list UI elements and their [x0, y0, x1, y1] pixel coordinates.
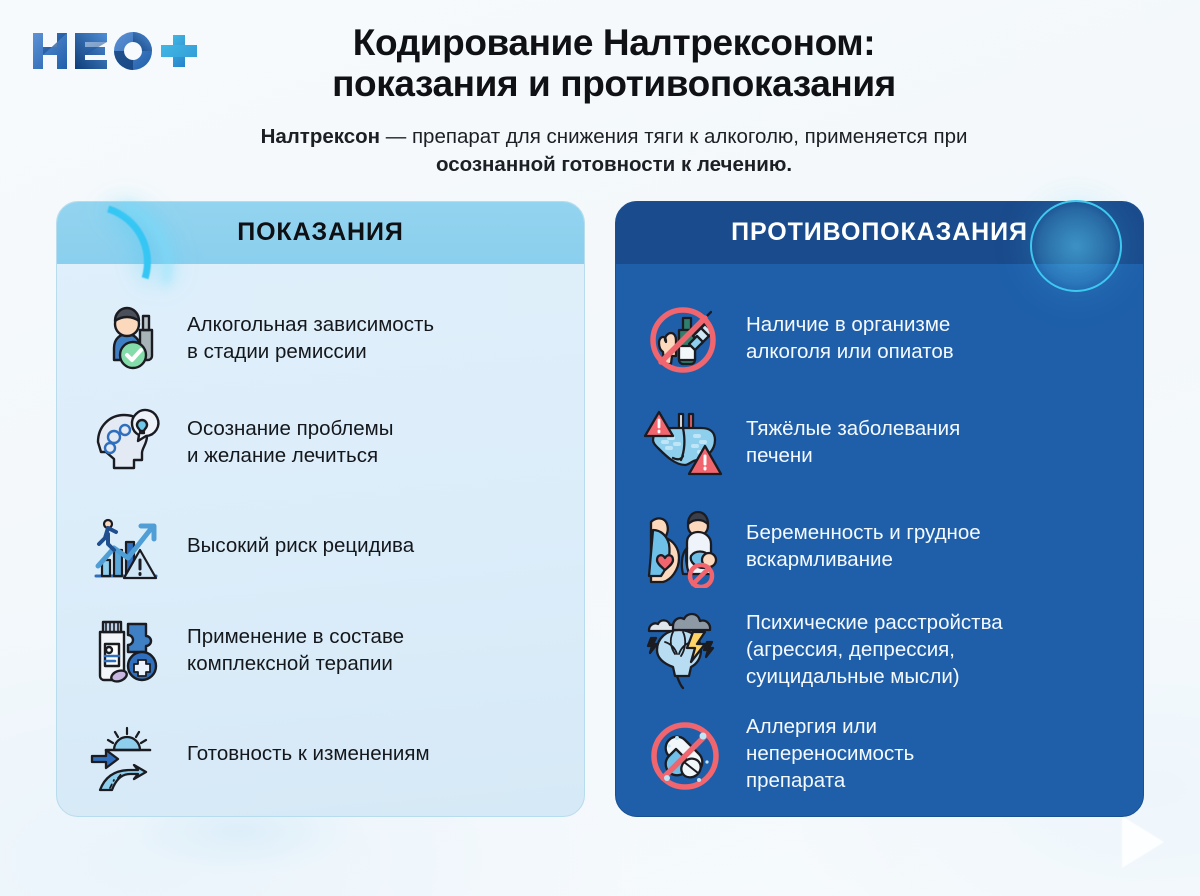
card-indications-heading: ПОКАЗАНИЯ	[57, 202, 584, 264]
no-alcohol-syringe-icon	[642, 295, 728, 381]
cards-container: ПОКАЗАНИЯ	[0, 201, 1200, 817]
card-contraindications-heading: ПРОТИВОПОКАЗАНИЯ	[616, 202, 1143, 264]
decorative-white-triangle	[1122, 816, 1164, 868]
list-item-text: Алкогольная зависимость в стадии ремисси…	[187, 311, 434, 365]
list-item-text: Осознание проблемы и желание лечиться	[187, 415, 394, 469]
list-item-text: Аллергия или непереносимость препарата	[746, 713, 914, 794]
card-indications-items: Алкогольная зависимость в стадии ремисси…	[57, 264, 584, 816]
list-item: Готовность к изменениям	[83, 702, 558, 806]
list-item: Высокий риск рецидива	[83, 494, 558, 598]
person-bottle-check-icon	[83, 295, 169, 381]
card-contraindications-items: Наличие в организме алкоголя или опиатов	[616, 264, 1143, 816]
list-item: Применение в составе комплексной терапии	[83, 598, 558, 702]
no-pills-allergy-icon	[642, 711, 728, 797]
list-item-text: Применение в составе комплексной терапии	[187, 623, 404, 677]
card-contraindications: ПРОТИВОПОКАЗАНИЯ	[615, 201, 1144, 817]
subtitle-middle-text: — препарат для снижения тяги к алкоголю,…	[380, 125, 967, 148]
list-item-text: Психические расстройства (агрессия, депр…	[746, 609, 1003, 690]
list-item: Осознание проблемы и желание лечиться	[83, 390, 558, 494]
list-item: Алкогольная зависимость в стадии ремисси…	[83, 286, 558, 390]
brain-storm-cloud-icon	[642, 607, 728, 693]
list-item-text: Высокий риск рецидива	[187, 532, 414, 559]
list-item: Наличие в организме алкоголя или опиатов	[642, 286, 1117, 390]
subtitle-bold-readiness: осознанной готовности к лечению.	[436, 153, 792, 176]
list-item: Аллергия или непереносимость препарата	[642, 702, 1117, 806]
pill-bottle-puzzle-cross-icon	[83, 607, 169, 693]
card-indications: ПОКАЗАНИЯ	[56, 201, 585, 817]
list-item-text: Наличие в организме алкоголя или опиатов	[746, 311, 954, 365]
infographic-page: Кодирование Налтрексоном: показания и пр…	[0, 0, 1200, 896]
rising-chart-warning-icon	[83, 503, 169, 589]
list-item-text: Беременность и грудное вскармливание	[746, 519, 981, 573]
pregnancy-breastfeeding-icon	[642, 503, 728, 589]
liver-warning-icon	[642, 399, 728, 485]
list-item: Тяжёлые заболевания печени	[642, 390, 1117, 494]
page-title: Кодирование Налтрексоном: показания и пр…	[248, 22, 980, 105]
page-subtitle: Налтрексон — препарат для снижения тяги …	[248, 123, 980, 179]
list-item-text: Готовность к изменениям	[187, 740, 430, 767]
title-block: Кодирование Налтрексоном: показания и пр…	[220, 22, 980, 179]
list-item-text: Тяжёлые заболевания печени	[746, 415, 960, 469]
page-header: Кодирование Налтрексоном: показания и пр…	[0, 0, 1200, 179]
neo-plus-logo	[29, 28, 205, 74]
list-item: Психические расстройства (агрессия, депр…	[642, 598, 1117, 702]
subtitle-bold-drug-name: Налтрексон	[261, 125, 381, 148]
head-gears-lightbulb-icon	[83, 399, 169, 485]
list-item: Беременность и грудное вскармливание	[642, 494, 1117, 598]
sunrise-road-arrow-icon	[83, 711, 169, 797]
